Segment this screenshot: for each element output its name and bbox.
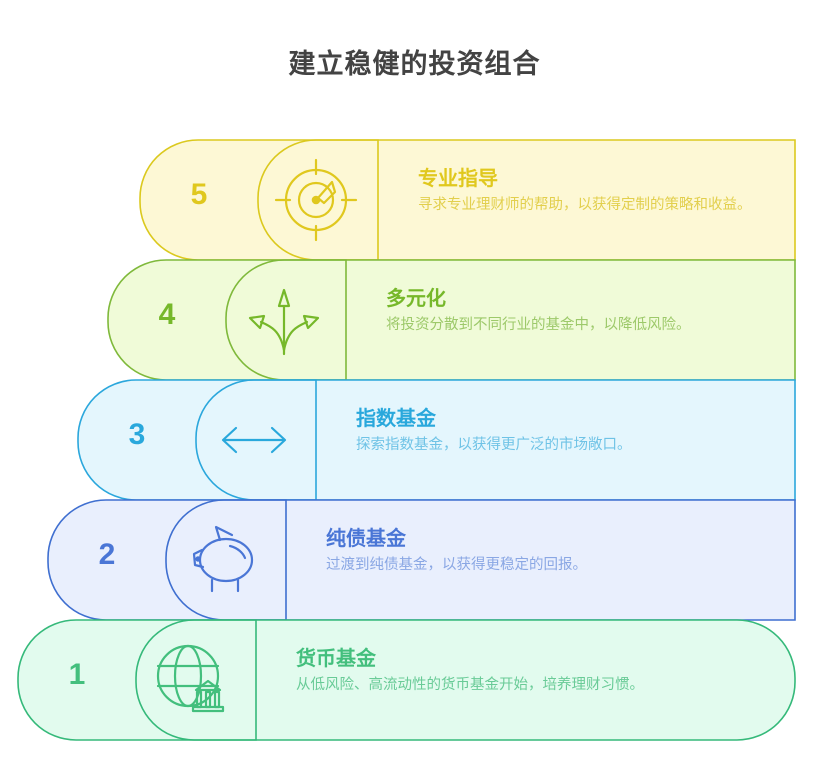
page-title: 建立稳健的投资组合 (0, 42, 829, 81)
step-row-1[interactable] (0, 132, 829, 752)
step-band (18, 620, 795, 740)
staircase-infographic (0, 132, 829, 752)
